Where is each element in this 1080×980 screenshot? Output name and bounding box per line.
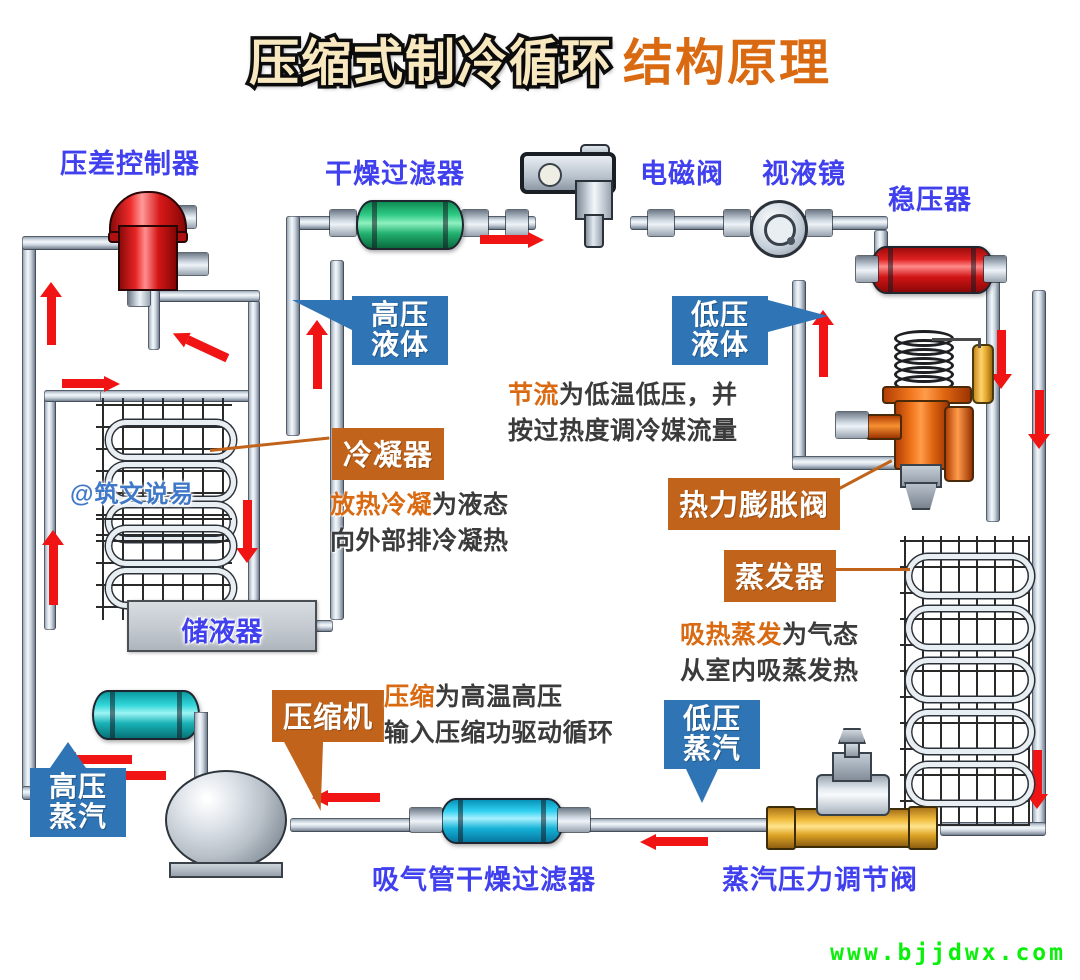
tag-thermal-expansion-valve: 热力膨胀阀 [668, 478, 840, 530]
txv-inlet-port [866, 414, 902, 440]
flag-low-pressure-vapor: 低压 蒸汽 [664, 700, 760, 769]
note-compressor-hi: 压缩 [384, 683, 435, 711]
flag-hpl-tail [292, 300, 352, 330]
flag-high-pressure-liquid: 高压 液体 [352, 296, 448, 365]
note-condenser-hi: 放热冷凝 [330, 491, 432, 519]
note-condenser-line2: 向外部排冷凝热 [330, 524, 509, 560]
title-main: 压缩式制冷循环 [249, 35, 613, 91]
flag-lpl-line2: 液体 [681, 330, 759, 360]
liquid-receiver-body[interactable]: 储液器 [127, 600, 317, 652]
compressor-body[interactable] [165, 770, 285, 880]
label-filter-drier: 干燥过滤器 [325, 152, 465, 191]
flag-high-pressure-vapor: 高压 蒸汽 [30, 768, 126, 837]
note-expansion-hi: 节流 [508, 381, 559, 409]
flow-arrow-up-left-1 [40, 282, 62, 345]
flag-hpv-line2: 蒸汽 [39, 802, 117, 832]
suction-filter-drier-body[interactable] [440, 798, 564, 844]
note-evaporator-rest: 为气态 [782, 621, 859, 649]
pipe-controller-out [148, 290, 260, 302]
controller-cylinder [118, 225, 178, 291]
flag-hpl-line2: 液体 [361, 330, 439, 360]
page-title: 压缩式制冷循环结构原理 [0, 38, 1080, 88]
note-condenser: 放热冷凝为液态 向外部排冷凝热 [330, 488, 509, 559]
thermal-expansion-valve-body[interactable] [880, 330, 1010, 520]
note-evaporator: 吸热蒸发为气态 从室内吸蒸发热 [680, 618, 859, 689]
flow-arrow-left-suction-1 [640, 834, 710, 850]
flag-hpv-tail [50, 742, 86, 768]
pressure-stabilizer-body[interactable] [870, 246, 994, 294]
pipe-union-5 [724, 210, 750, 236]
note-evaporator-hi: 吸热蒸发 [680, 621, 782, 649]
flow-arrow-right-condenser-feed [62, 376, 120, 392]
txv-capillary-top [932, 338, 980, 341]
txv-inlet-union [836, 412, 868, 438]
label-sight-glass: 视液镜 [762, 152, 846, 191]
solenoid-indicator-icon [538, 163, 562, 187]
vprv-port-left [766, 806, 796, 850]
suction-drier-union-left [410, 808, 442, 832]
flag-lpv-line2: 蒸汽 [673, 734, 751, 764]
txv-capillary-drop [978, 338, 981, 348]
label-solenoid-valve: 电磁阀 [640, 152, 724, 191]
note-expansion-rest: 为低温低压，并 [559, 381, 738, 409]
pipe-to-controller [22, 236, 120, 250]
solenoid-nozzle [584, 214, 604, 248]
filter-drier-body[interactable] [356, 200, 464, 250]
pipe-union-1 [330, 210, 356, 236]
flow-arrow-left-suction-2 [312, 790, 382, 806]
compressor-base [169, 862, 283, 878]
vprv-port-right [908, 806, 938, 850]
tag-evaporator: 蒸发器 [724, 550, 836, 602]
pipe-right-outer-riser [1032, 290, 1046, 830]
label-vapor-pressure-regulating-valve: 蒸汽压力调节阀 [722, 858, 918, 897]
suction-drier-union-right [558, 808, 590, 832]
flag-hpv-line1: 高压 [39, 772, 117, 802]
stabilizer-union-right [984, 256, 1006, 282]
stabilizer-union-left [856, 256, 878, 282]
note-evaporator-line2: 从室内吸蒸发热 [680, 654, 859, 690]
flow-arrow-up-left-2 [42, 530, 64, 605]
pipe-union-4 [648, 210, 674, 236]
flag-low-pressure-liquid: 低压 液体 [672, 296, 768, 365]
txv-sensing-bulb [972, 344, 994, 404]
pipe-union-6 [806, 210, 832, 236]
flag-lpl-line1: 低压 [681, 300, 759, 330]
compressor-shell [165, 770, 287, 870]
sight-glass-ring [764, 214, 796, 246]
note-expansion-line2: 按过热度调冷媒流量 [508, 414, 738, 450]
note-compressor-line2: 输入压缩功驱动循环 [384, 716, 614, 752]
flow-arrow-left-controller [169, 326, 230, 366]
txv-outlet-port [944, 406, 974, 482]
pressure-differential-controller-body[interactable] [118, 205, 174, 287]
flag-lpv-line1: 低压 [673, 704, 751, 734]
solenoid-valve-body[interactable] [520, 152, 640, 262]
leader-evaporator [832, 568, 910, 571]
note-expansion: 节流为低温低压，并 按过热度调冷媒流量 [508, 378, 738, 449]
note-compressor: 压缩为高温高压 输入压缩功驱动循环 [384, 680, 614, 751]
liquid-receiver-label: 储液器 [129, 610, 315, 649]
txv-main-body [894, 400, 950, 470]
label-pressure-differential-controller: 压差控制器 [60, 142, 200, 181]
footer-url: www.bjjdwx.com [830, 940, 1066, 966]
vapor-pressure-regulating-valve-body[interactable] [760, 740, 940, 850]
title-accent: 结构原理 [623, 35, 831, 91]
refrigeration-cycle-diagram: 压缩式制冷循环结构原理 [0, 0, 1080, 980]
suction-accumulator-body[interactable] [92, 690, 200, 740]
watermark: @筑文说易 [70, 474, 194, 509]
tag-condenser: 冷凝器 [332, 428, 444, 480]
pipe-far-left-riser [22, 236, 36, 796]
flow-arrow-up-liquid-line [306, 320, 328, 389]
vprv-cap-icon [838, 728, 866, 744]
label-suction-filter-drier: 吸气管干燥过滤器 [372, 858, 596, 897]
sight-glass-dot-icon [787, 237, 795, 245]
pipe-condenser-outlet-down [248, 300, 260, 630]
flow-arrow-down-condenser-out [236, 500, 258, 563]
flag-hpl-line1: 高压 [361, 300, 439, 330]
sight-glass-body[interactable] [750, 200, 808, 258]
note-compressor-rest: 为高温高压 [435, 683, 563, 711]
flag-lpl-tail [768, 300, 828, 332]
flow-arrow-down-right-2 [1028, 390, 1050, 449]
label-pressure-stabilizer: 稳压器 [888, 178, 972, 217]
flag-lpv-tail [686, 769, 718, 803]
leader-compressor [277, 733, 324, 811]
txv-outlet-cone [904, 482, 938, 510]
note-condenser-rest: 为液态 [432, 491, 509, 519]
